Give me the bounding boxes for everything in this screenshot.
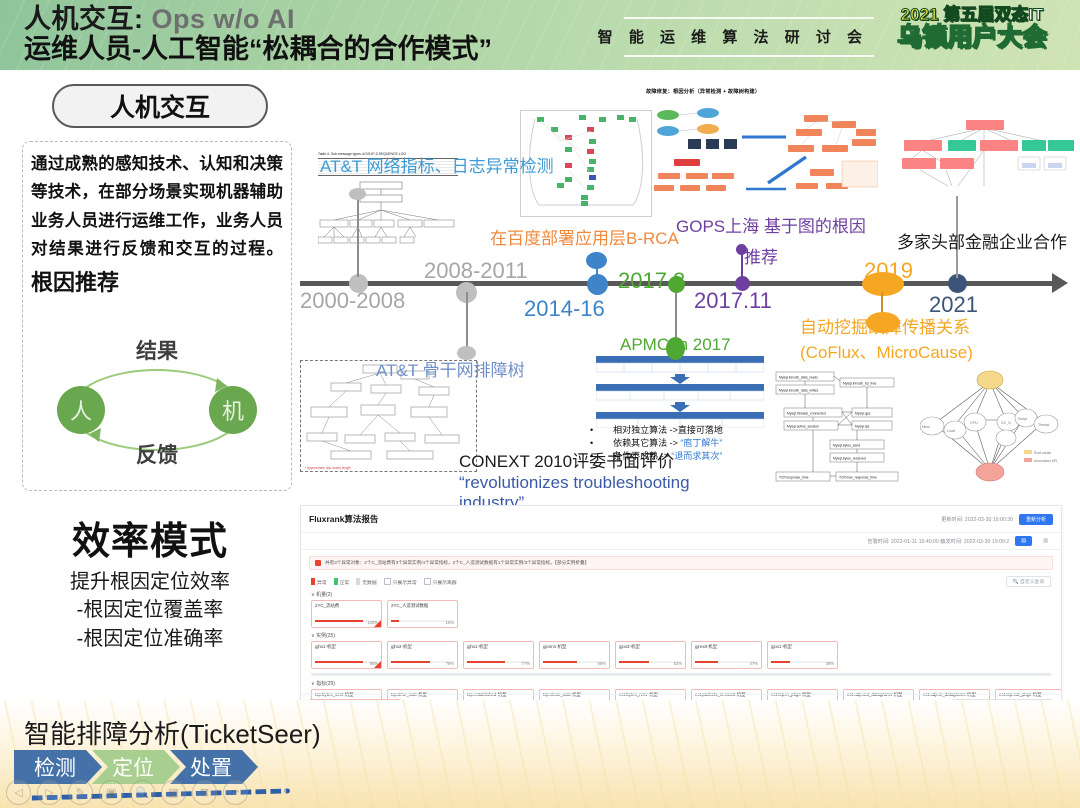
conext-line2: “revolutionizes troubleshooting xyxy=(459,473,709,494)
process-steps: 检测 定位 处置 xyxy=(14,750,248,784)
dashboard-title: Fluxrank算法报告 xyxy=(309,513,378,525)
metric-card-label: gjhx1-机型 xyxy=(315,644,378,650)
svg-text:Mem: Mem xyxy=(922,425,930,429)
svg-text:Mysql.threads_connected: Mysql.threads_connected xyxy=(787,412,826,416)
efficiency-line-1: -根因定位覆盖率 xyxy=(0,596,300,624)
svg-text:Load: Load xyxy=(947,429,955,433)
metric-card[interactable]: gjox3-机型62% xyxy=(615,641,686,669)
metric-bar-track xyxy=(543,661,606,663)
play-icon[interactable]: ▷ xyxy=(37,780,62,805)
bullet-text-2: 条件不成熟 -> xyxy=(613,451,671,461)
timeline-stem-1 xyxy=(466,292,468,350)
title-line1-en: Ops w/o AI xyxy=(152,4,296,34)
timeline-stem-cap-2 xyxy=(586,252,607,269)
cycle-node-human: 人 xyxy=(57,386,105,434)
stamp-icon[interactable]: ▣ xyxy=(99,780,124,805)
root-cause-graph-svg: MemLoadCPU GC_DScriptThread Root cause A… xyxy=(920,368,1060,488)
att-tree-diagram xyxy=(318,180,458,252)
zoom-icon[interactable]: 🔍 xyxy=(130,780,155,805)
svg-text:* Approximate (top-down) lengt: * Approximate (top-down) length xyxy=(305,466,351,470)
title-line1-cn: 人机交互: xyxy=(24,4,144,34)
legend-normal: 正常 xyxy=(334,578,350,586)
svg-text:Thread: Thread xyxy=(1038,423,1049,427)
metric-card-label: gjonn1-机型 xyxy=(543,644,606,650)
conference-logo: 2021 第五届双态IT 乌镇用户大会 xyxy=(874,6,1070,64)
fault-repair-svg xyxy=(646,99,878,199)
efficiency-line-0: 提升根因定位效率 xyxy=(0,568,300,596)
step-locate[interactable]: 定位 xyxy=(92,750,180,784)
mysql-causal-graph-svg: Mysql.innodb_data_reads Mysql.innodb_dat… xyxy=(774,368,916,488)
cycle-node-machine: 机 xyxy=(209,386,257,434)
metric-card[interactable]: gjonn1-机型69% xyxy=(539,641,610,669)
legend-abnormal: 异常 xyxy=(311,578,327,586)
svg-text:Anomalous KPI: Anomalous KPI xyxy=(1034,459,1057,463)
svg-text:CPU: CPU xyxy=(970,421,978,425)
timeline-caption-coflux: 自动挖掘故障传播关系 xyxy=(800,313,970,338)
timeline-label-3: 2017.8 xyxy=(618,268,685,294)
metric-card-pct: 62% xyxy=(674,661,682,666)
banner-title: 智能排障分析(TicketSeer) xyxy=(24,714,321,751)
logo-line1-rest: 第五届双态IT xyxy=(943,5,1043,24)
reanalyze-button[interactable]: 重新分析 xyxy=(1019,514,1053,525)
dashboard-header: Fluxrank算法报告 更新时间: 2022-03-30 19:00:30 重… xyxy=(301,506,1061,533)
metric-card-label: gjhx2-机型 xyxy=(391,644,454,650)
metric-card-flag-icon xyxy=(374,620,381,627)
efficiency-lines: 提升根因定位效率 -根因定位覆盖率 -根因定位准确率 xyxy=(0,568,300,653)
search-input[interactable]: 🔍 自定义查询 xyxy=(1006,576,1051,587)
svg-text:TCP.response_time: TCP.response_time xyxy=(779,476,809,480)
copy-icon[interactable]: ▤ xyxy=(1015,536,1032,546)
timeline-stem-0 xyxy=(357,195,359,277)
metric-card[interactable]: gjox1-机型39% xyxy=(767,641,838,669)
dashboard-subheader: 告警时间: 2022-01-11 16:40:00 触发时间: 2022-03-… xyxy=(301,533,1061,550)
alert-square-icon xyxy=(315,560,321,566)
timeline-stem-cap-0 xyxy=(349,188,366,200)
conference-name: 智 能 运 维 算 法 研 讨 会 xyxy=(598,26,868,47)
prev-icon[interactable]: ◁ xyxy=(6,780,31,805)
section-pill-label: 人机交互 xyxy=(110,88,210,124)
section-pill: 人机交互 xyxy=(52,84,268,128)
note-icon[interactable]: ▤ xyxy=(161,780,186,805)
group-title-2[interactable]: ∨ 指标(29) xyxy=(301,676,1061,689)
conference-rule-top xyxy=(624,17,874,19)
metric-bar-track xyxy=(695,661,758,663)
svg-text:Mysql.bytes_received: Mysql.bytes_received xyxy=(833,457,866,461)
checkbox-only-abnormal[interactable]: 只展示异常 xyxy=(384,578,417,586)
efficiency-line-2: -根因定位准确率 xyxy=(0,625,300,653)
metric-card-label: 2YC_人造测试数据 xyxy=(391,603,454,609)
group-title-0[interactable]: ∨ 机量(2) xyxy=(301,587,1061,600)
description-box: 通过成熟的感知技术、认知和决策等技术，在部分场景实现机器辅助业务人员进行运维工作… xyxy=(22,141,292,491)
pen-icon[interactable]: ✎ xyxy=(68,780,93,805)
svg-text:TCP.max_response_time: TCP.max_response_time xyxy=(839,476,877,480)
dashboard-update-time: 更新时间: 2022-03-30 19:00:30 xyxy=(941,516,1013,523)
dashboard-alarm-times: 告警时间: 2022-01-11 16:40:00 触发时间: 2022-03-… xyxy=(867,538,1009,545)
dashboard-alert-text: 共有3个异常对象：2个C_流站费有3个异常实例/4个异常指标，2个C_人造测试数… xyxy=(325,560,589,566)
metric-card[interactable]: gjhx2-机型79% xyxy=(387,641,458,669)
dashboard-header-right: 更新时间: 2022-03-30 19:00:30 重新分析 xyxy=(941,514,1053,525)
title-line2: 运维人员-人工智能“松耦合的合作模式” xyxy=(24,34,492,64)
node-tree-svg xyxy=(896,112,1074,196)
timeline-caption-finance: 多家头部金融企业合作 xyxy=(897,228,1067,253)
metric-card-pct: 15% xyxy=(446,620,454,625)
fault-repair-thumbnail: 故障修复：根因分析（异常检测 + 故障树构建） xyxy=(646,88,878,200)
fault-repair-title: 故障修复：根因分析（异常检测 + 故障树构建） xyxy=(646,88,878,95)
metric-card-pct: 69% xyxy=(598,661,606,666)
metric-bar-track xyxy=(619,661,682,663)
description-text: 通过成熟的感知技术、认知和决策等技术，在部分场景实现机器辅助业务人员进行运维工作… xyxy=(31,155,283,258)
timeline-label-4: 2017.11 xyxy=(694,288,772,314)
metric-bar-track xyxy=(771,661,834,663)
screen-icon[interactable]: ⊠ xyxy=(192,780,217,805)
timeline-caption-recommend: 推荐 xyxy=(744,243,778,268)
step-handle[interactable]: 处置 xyxy=(170,750,258,784)
metric-card[interactable]: gjrex8-机型47% xyxy=(691,641,762,669)
timeline-label-0: 2000-2008 xyxy=(300,288,405,314)
bullet-list: •相对独立算法 ->直接可落地 •依赖其它算法 -> “庖丁解牛” •条件不成熟… xyxy=(590,424,790,462)
bullet-quote-1: “庖丁解牛” xyxy=(680,438,722,448)
legend-nodata: 无数据 xyxy=(356,578,376,586)
bullet-text-1: 依赖其它算法 -> xyxy=(613,438,680,448)
svg-text:Mysql.qps: Mysql.qps xyxy=(855,412,871,416)
timeline-label-5: 2019 xyxy=(864,258,913,284)
metric-card[interactable]: gjhx1-机型98% xyxy=(311,641,382,669)
metric-card-label: gjhx1-机型 xyxy=(467,644,530,650)
metric-card-label: gjrex8-机型 xyxy=(695,644,758,650)
dashboard-legend: 异常 正常 无数据 只展示异常 只展示离群 🔍 自定义查询 xyxy=(301,576,1061,587)
metric-bar-track xyxy=(391,661,454,663)
metric-card[interactable]: 2YC_人造测试数据 15% xyxy=(387,600,458,628)
metric-card-flag-icon xyxy=(374,661,381,668)
timeline-label-1: 2008-2011 xyxy=(424,258,528,284)
metric-card-pct: 47% xyxy=(750,661,758,666)
card-row-0: 2YC_流站费 100% 2YC_人造测试数据 15% xyxy=(301,600,1061,628)
bullet-item-2: •条件不成熟 -> “退而求其次” xyxy=(590,450,790,463)
mysql-causal-graph-thumbnail: Mysql.innodb_data_reads Mysql.innodb_dat… xyxy=(774,368,916,488)
efficiency-title: 效率模式 xyxy=(0,510,300,565)
bullet-item-0: •相对独立算法 ->直接可落地 xyxy=(590,424,790,437)
cycle-bottom-label: 反馈 xyxy=(23,439,291,469)
description-paragraph: 通过成熟的感知技术、认知和决策等技术，在部分场景实现机器辅助业务人员进行运维工作… xyxy=(23,142,291,301)
cycle-top-label: 结果 xyxy=(23,335,291,365)
card-row-1: gjhx1-机型98%gjhx2-机型79%gjhx1-机型77%gjonn1-… xyxy=(301,641,1061,669)
svg-text:Mysql.bytes_send: Mysql.bytes_send xyxy=(833,444,860,448)
svg-text:Mysql.active_session: Mysql.active_session xyxy=(787,425,819,429)
doc-icon[interactable]: ▥ xyxy=(1038,537,1053,545)
svg-text:Root cause: Root cause xyxy=(1034,451,1051,455)
logo-line2-a: 乌镇 xyxy=(897,23,947,51)
description-emphasis: 根因推荐 xyxy=(31,270,119,295)
timeline-caption-att-detect: AT&T 网络指标、日志异常检测 xyxy=(320,152,554,177)
metric-card-label: gjox1-机型 xyxy=(771,644,834,650)
metric-card-pct: 39% xyxy=(826,661,834,666)
metric-bar-track xyxy=(391,620,454,622)
timeline-label-2: 2014-16 xyxy=(524,296,605,322)
bullet-quote-2: “退而求其次” xyxy=(671,451,722,461)
svg-text:Mysql.innodb_data_writes: Mysql.innodb_data_writes xyxy=(779,389,819,393)
metric-bar-track xyxy=(467,661,530,663)
metric-bar-track xyxy=(315,661,378,663)
bottom-banner: 智能排障分析(TicketSeer) 检测 定位 处置 ◁ ▷ ✎ ▣ 🔍 ▤ … xyxy=(0,700,1080,808)
apmcon-tables-svg xyxy=(596,356,764,428)
metric-card[interactable]: gjhx1-机型77% xyxy=(463,641,534,669)
group-title-1[interactable]: ∨ 实例(25) xyxy=(301,628,1061,641)
node-tree-thumbnail xyxy=(896,112,1074,196)
timeline-caption-baidu-brca: 在百度部署应用层B-RCA xyxy=(490,224,679,249)
step-detect[interactable]: 检测 xyxy=(14,750,102,784)
checkbox-only-outlier[interactable]: 只展示离群 xyxy=(424,578,457,586)
logo-year: 2021 xyxy=(901,5,939,24)
timeline-caption-gops: GOPS上海 基于图的根因 xyxy=(676,212,866,237)
slide-header: 人机交互: Ops w/o AI 运维人员-人工智能“松耦合的合作模式” 智 能… xyxy=(0,0,1080,70)
bullet-text-0: 相对独立算法 ->直接可落地 xyxy=(613,425,723,435)
dashboard-alert: 共有3个异常对象：2个C_流站费有3个异常实例/4个异常指标，2个C_人造测试数… xyxy=(309,556,1053,570)
metric-card[interactable]: 2YC_流站费 100% xyxy=(311,600,382,628)
conference-rule-bottom xyxy=(624,55,874,57)
metric-card-pct: 77% xyxy=(522,661,530,666)
apmcon-tables-thumbnail xyxy=(596,356,764,428)
slide: 人机交互: Ops w/o AI 运维人员-人工智能“松耦合的合作模式” 智 能… xyxy=(0,0,1080,808)
metric-card-pct: 79% xyxy=(446,661,454,666)
svg-text:Mysql.tps: Mysql.tps xyxy=(855,425,870,429)
svg-text:GC_D: GC_D xyxy=(1001,421,1011,425)
bullet-item-1: •依赖其它算法 -> “庖丁解牛” xyxy=(590,437,790,450)
timeline-caption-coflux-2: (CoFlux、MicroCause) xyxy=(800,338,973,363)
metric-card-label: 2YC_流站费 xyxy=(315,603,378,609)
timeline-caption-att-tree: AT&T 骨干网排障树 xyxy=(376,356,525,381)
logo-line2-b: 用户大会 xyxy=(947,23,1047,51)
slide-title: 人机交互: Ops w/o AI 运维人员-人工智能“松耦合的合作模式” xyxy=(24,4,492,64)
more-icon[interactable]: ••• xyxy=(223,780,248,805)
svg-text:Mysql.innodb_data_reads: Mysql.innodb_data_reads xyxy=(779,376,818,380)
presenter-toolbar: ◁ ▷ ✎ ▣ 🔍 ▤ ⊠ ••• xyxy=(6,780,248,805)
root-cause-graph-thumbnail: MemLoadCPU GC_DScriptThread Root cause A… xyxy=(920,368,1060,488)
timeline-caption-apmcon: APMCon 2017 xyxy=(620,335,731,355)
metric-card-label: gjox3-机型 xyxy=(619,644,682,650)
svg-text:Script: Script xyxy=(1018,417,1027,421)
svg-text:Mysql.innodb_bp_free: Mysql.innodb_bp_free xyxy=(843,382,876,386)
